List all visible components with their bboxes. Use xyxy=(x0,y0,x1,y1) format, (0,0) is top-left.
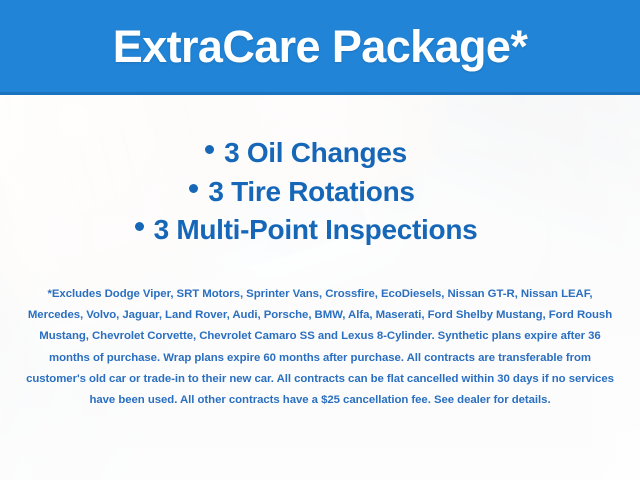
page-title: ExtraCare Package* xyxy=(113,24,527,69)
extracare-package-ad: ExtraCare Package* 3 Oil Changes 3 Tire … xyxy=(0,0,640,480)
bullet-dot-icon xyxy=(189,184,198,193)
benefit-label: 3 Multi-Point Inspections xyxy=(154,214,478,245)
bullet-dot-icon xyxy=(135,222,144,231)
content-area: 3 Oil Changes 3 Tire Rotations 3 Multi-P… xyxy=(0,92,640,480)
benefits-list: 3 Oil Changes 3 Tire Rotations 3 Multi-P… xyxy=(0,134,640,250)
list-item: 3 Oil Changes xyxy=(0,134,612,173)
list-item: 3 Tire Rotations xyxy=(0,173,612,212)
header-banner: ExtraCare Package* xyxy=(0,0,640,95)
benefit-label: 3 Oil Changes xyxy=(224,137,407,168)
list-item: 3 Multi-Point Inspections xyxy=(0,211,612,250)
bullet-dot-icon xyxy=(205,145,214,154)
benefit-label: 3 Tire Rotations xyxy=(208,176,414,207)
disclaimer-text: *Excludes Dodge Viper, SRT Motors, Sprin… xyxy=(24,284,616,411)
